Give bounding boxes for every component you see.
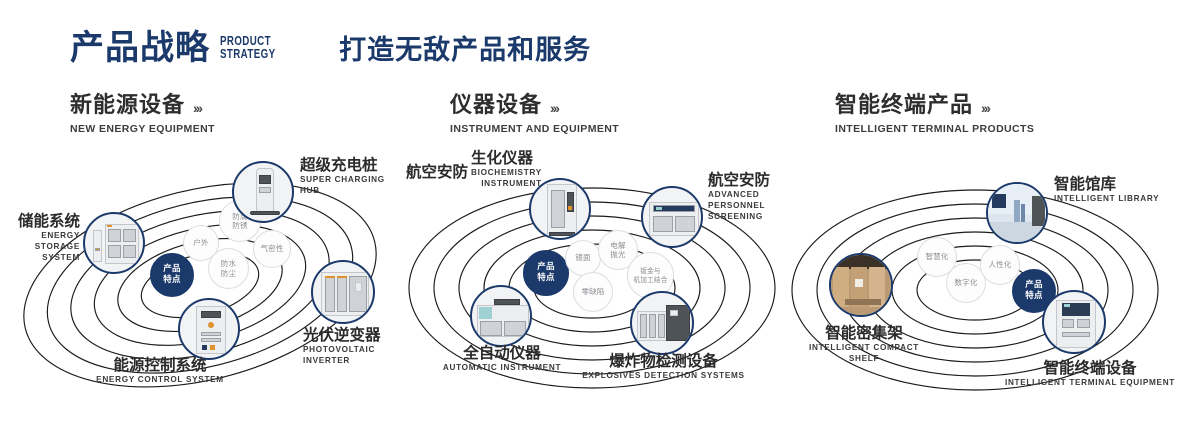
screening-machine-icon [643, 188, 701, 246]
node-label-super-charging-hub: 超级充电桩 SUPER CHARGING HUB [300, 157, 400, 197]
node-label-en: INTELLIGENT COMPACT SHELF [790, 343, 938, 364]
page-header: 产品战略 PRODUCT STRATEGY 打造无敌产品和服务 [70, 28, 591, 67]
node-label-en: EXPLOSIVES DETECTION SYSTEMS [581, 371, 746, 382]
section-heading-en: INTELLIGENT TERMINAL PRODUCTS [835, 123, 1034, 135]
node-label-cn: 智能馆库 [1054, 176, 1159, 192]
chevron-right-icon: ››› [193, 101, 201, 117]
node-label-en: ENERGY STORAGE SYSTEM [0, 231, 80, 263]
feature-label: 气密性 [260, 244, 283, 253]
node-label-en: INTELLIGENT TERMINAL EQUIPMENT [990, 378, 1190, 389]
feature-bubble: 气密性 [253, 230, 291, 268]
node-label-cn: 超级充电桩 [300, 157, 400, 173]
control-cabinet-icon [180, 300, 238, 358]
section-heading-intelligent-terminal: 智能终端产品 ››› INTELLIGENT TERMINAL PRODUCTS [835, 95, 1034, 135]
node-label-en: PHOTOVOLTAIC INVERTER [303, 345, 400, 366]
core-bubble: 产品 特点 [150, 253, 194, 297]
node-energy-control[interactable] [178, 298, 240, 360]
node-compact-shelf[interactable] [829, 253, 893, 317]
node-label-en: INTELLIGENT LIBRARY [1054, 194, 1159, 205]
core-bubble-label: 产品 特点 [537, 262, 554, 283]
node-label-cn: 能源控制系统 [80, 357, 240, 373]
node-label-cn: 智能终端设备 [990, 360, 1190, 376]
node-label-cn: 智能密集架 [790, 325, 938, 341]
feature-label: 电解 抛光 [610, 241, 625, 260]
node-label-terminal-equipment: 智能终端设备 INTELLIGENT TERMINAL EQUIPMENT [990, 360, 1190, 389]
chevron-right-icon: ››› [550, 101, 558, 117]
compact-shelving-icon [831, 255, 891, 315]
node-label-biochemistry-instrument: 生化仪器 BIOCHEMISTRY INSTRUMENT [471, 150, 542, 190]
node-label-explosives-detection: 爆炸物检测设备 EXPLOSIVES DETECTION SYSTEMS [581, 353, 746, 382]
page-title: 产品战略 [70, 31, 210, 65]
pv-inverter-cabinet-icon [313, 262, 373, 322]
node-label-cn: 航空安防 [406, 164, 468, 180]
node-intelligent-library[interactable] [986, 182, 1048, 244]
node-label-en: AUTOMATIC INSTRUMENT [427, 363, 577, 374]
feature-label: 钣金与 机加工结合 [634, 267, 668, 283]
charging-pile-icon [234, 163, 292, 221]
feature-bubble: 镜面 [565, 240, 601, 276]
diagram-new-energy: 产品 特点 户外 防腐 防锈 防水 防尘 气密性 储能系统 ENERGY STO… [0, 150, 400, 410]
section-heading-new-energy: 新能源设备 ››› NEW ENERGY EQUIPMENT [70, 95, 215, 135]
feature-bubble: 防水 防尘 [208, 248, 249, 289]
page-slogan: 打造无敌产品和服务 [339, 28, 591, 67]
node-personnel-screening[interactable] [641, 186, 703, 248]
feature-bubble: 零缺陷 [573, 272, 613, 312]
node-label-automatic-instrument: 全自动仪器 AUTOMATIC INSTRUMENT [427, 345, 577, 374]
feature-label: 数字化 [954, 278, 977, 287]
node-label-energy-storage: 储能系统 ENERGY STORAGE SYSTEM [0, 213, 80, 263]
core-bubble-label: 产品 特点 [1025, 280, 1042, 301]
feature-label: 镜面 [575, 253, 590, 262]
self-service-kiosk-icon [1044, 292, 1104, 352]
section-heading-en: NEW ENERGY EQUIPMENT [70, 123, 215, 135]
feature-label: 人性化 [988, 260, 1011, 269]
diagram-instrument: 产品 特点 镜面 电解 抛光 零缺陷 钣金与 机加工结合 航空安防 生化仪器 B… [395, 150, 795, 410]
node-label-cn: 生化仪器 [471, 150, 542, 166]
feature-label: 户外 [193, 238, 208, 247]
node-label-personnel-screening: 航空安防 ADVANCED PERSONNEL SCREENING [708, 172, 795, 222]
node-label-intelligent-library: 智能馆库 INTELLIGENT LIBRARY [1054, 176, 1159, 205]
smart-library-room-icon [988, 184, 1046, 242]
node-pv-inverter[interactable] [311, 260, 375, 324]
node-label-cn: 航空安防 [708, 172, 795, 188]
page-title-en: PRODUCT STRATEGY [220, 35, 275, 60]
detection-scanner-icon [632, 293, 692, 353]
node-label-energy-control: 能源控制系统 ENERGY CONTROL SYSTEM [80, 357, 240, 386]
section-heading-instrument: 仪器设备 ››› INSTRUMENT AND EQUIPMENT [450, 95, 619, 135]
node-label-en: ADVANCED PERSONNEL SCREENING [708, 190, 795, 222]
section-heading-en: INSTRUMENT AND EQUIPMENT [450, 123, 619, 135]
section-heading-cn: 智能终端产品 [835, 95, 973, 117]
node-label-cn: 光伏逆变器 [303, 327, 400, 343]
section-heading-cn: 新能源设备 [70, 95, 185, 117]
feature-label: 防水 防尘 [221, 259, 236, 278]
node-label-cn: 爆炸物检测设备 [581, 353, 746, 369]
section-heading-cn: 仪器设备 [450, 95, 542, 117]
node-terminal-equipment[interactable] [1042, 290, 1106, 354]
node-label-pv-inverter: 光伏逆变器 PHOTOVOLTAIC INVERTER [303, 327, 400, 367]
node-super-charging-hub[interactable] [232, 161, 294, 223]
diagram-intelligent-terminal: 智慧化 数字化 人性化 产品 特点 智能馆库 INTELLIGENT LIBRA… [790, 150, 1190, 410]
node-label-cn: 全自动仪器 [427, 345, 577, 361]
energy-storage-cabinet-icon [85, 214, 143, 272]
feature-label: 零缺陷 [581, 287, 604, 296]
node-automatic-instrument[interactable] [470, 285, 532, 347]
feature-label: 智慧化 [925, 252, 948, 261]
chevron-right-icon: ››› [981, 101, 989, 117]
node-label-en: SUPER CHARGING HUB [300, 175, 400, 196]
core-bubble-label: 产品 特点 [163, 264, 180, 285]
node-label-en: ENERGY CONTROL SYSTEM [80, 375, 240, 386]
automatic-instrument-icon [472, 287, 530, 345]
node-explosives-detection[interactable] [630, 291, 694, 355]
node-label-en: BIOCHEMISTRY INSTRUMENT [471, 168, 542, 189]
node-energy-storage[interactable] [83, 212, 145, 274]
node-label-aviation-security-overlay: 航空安防 [406, 164, 468, 180]
node-label-compact-shelf: 智能密集架 INTELLIGENT COMPACT SHELF [790, 325, 938, 365]
node-label-cn: 储能系统 [0, 213, 80, 229]
